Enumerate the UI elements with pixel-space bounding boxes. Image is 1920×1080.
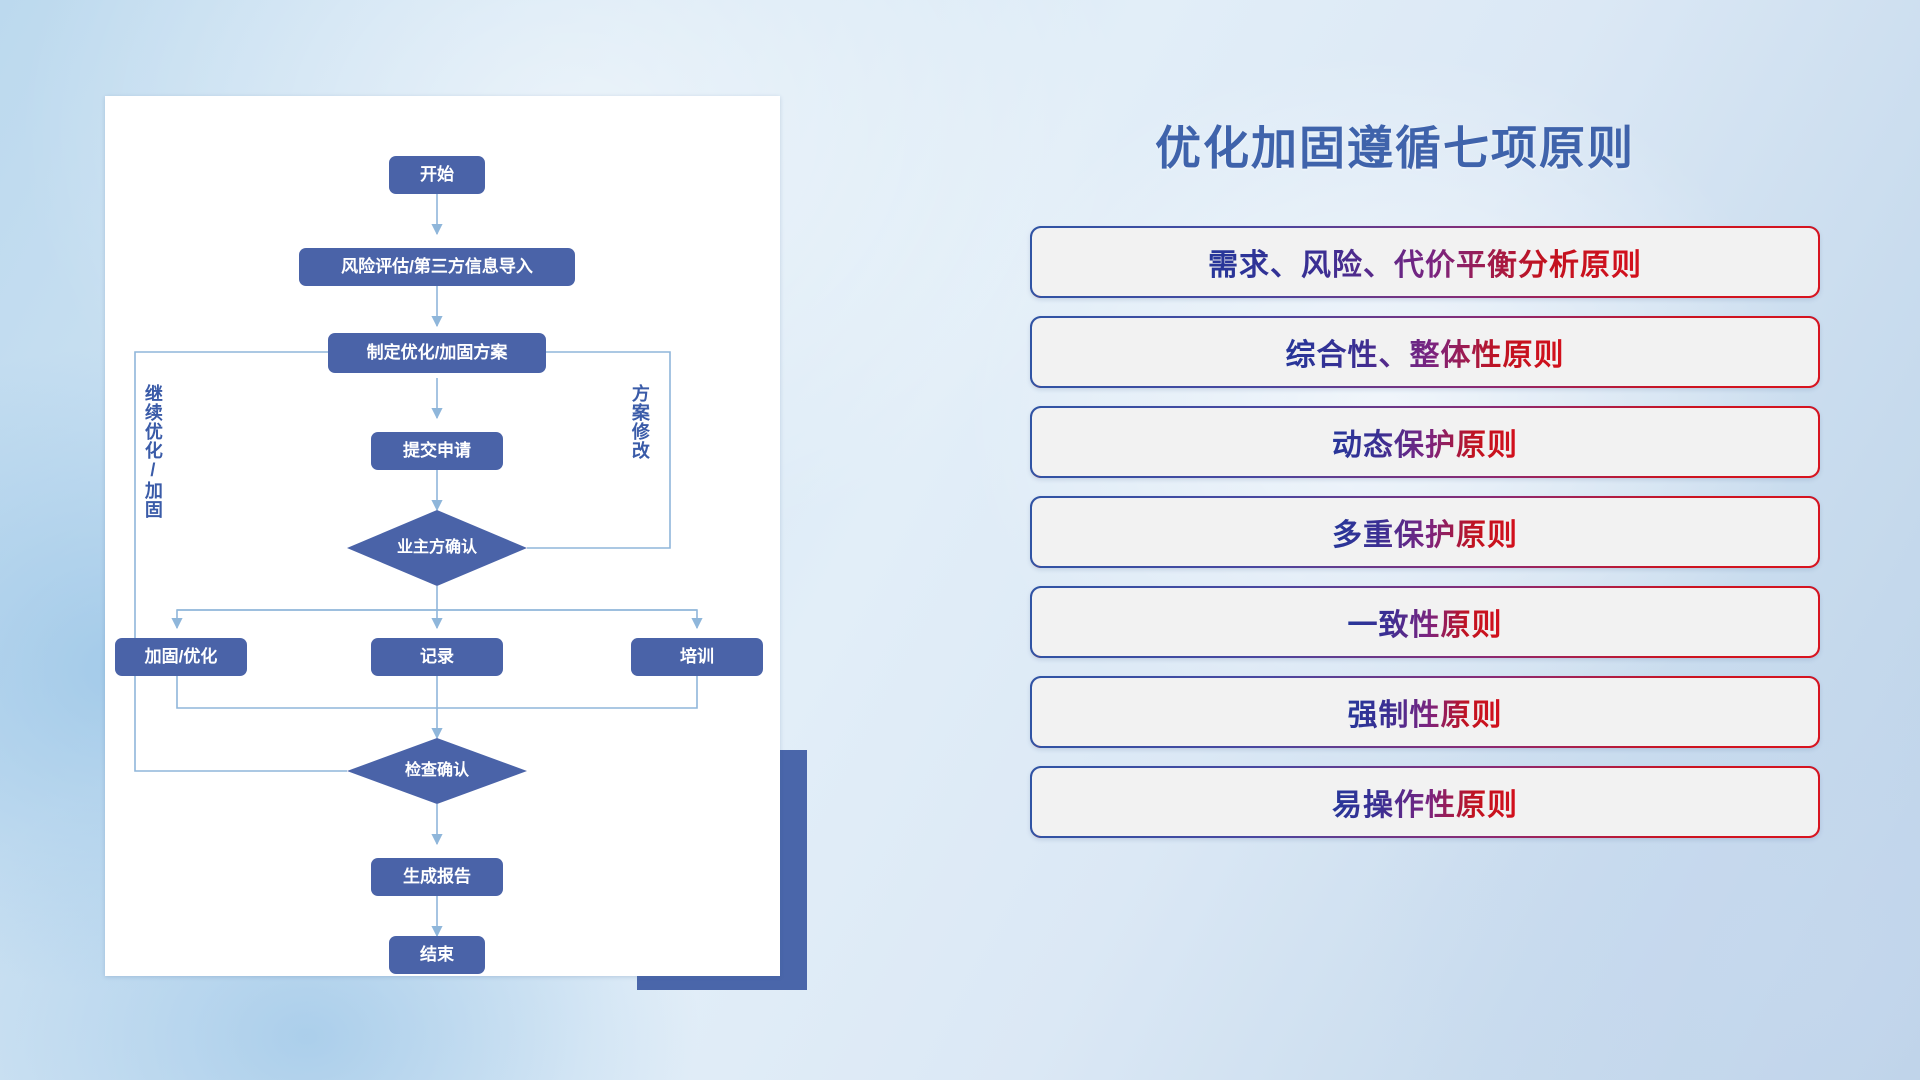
principle-card-4[interactable]: 多重保护原则 [1030,496,1820,568]
principles-pane: 优化加固遵循七项原则 需求、风险、代价平衡分析原则 综合性、整体性原则 动态保护… [1000,0,1850,1080]
principle-label-4: 多重保护原则 [1332,510,1518,554]
principle-label-3: 动态保护原则 [1332,420,1518,464]
principles-card-list: 需求、风险、代价平衡分析原则 综合性、整体性原则 动态保护原则 多重保护原则 一… [1030,226,1820,856]
principle-label-6: 强制性原则 [1348,690,1503,734]
principle-label-5: 一致性原则 [1348,600,1503,644]
principle-card-1[interactable]: 需求、风险、代价平衡分析原则 [1030,226,1820,298]
flow-edge-label-plan-revision: 方案修改 [630,384,649,460]
flowchart-panel: 开始 风险评估/第三方信息导入 制定优化/加固方案 提交申请 业主方确认 加固/… [105,96,780,976]
principle-label-1: 需求、风险、代价平衡分析原则 [1208,240,1642,284]
principle-label-7: 易操作性原则 [1332,780,1518,824]
principle-card-7[interactable]: 易操作性原则 [1030,766,1820,838]
principle-card-6[interactable]: 强制性原则 [1030,676,1820,748]
principle-card-3[interactable]: 动态保护原则 [1030,406,1820,478]
flow-edge-label-continue-optimize: 继续优化/加固 [143,384,162,519]
principle-label-2: 综合性、整体性原则 [1286,330,1565,374]
principle-card-5[interactable]: 一致性原则 [1030,586,1820,658]
principles-title: 优化加固遵循七项原则 [1155,112,1635,178]
slide-canvas: 开始 风险评估/第三方信息导入 制定优化/加固方案 提交申请 业主方确认 加固/… [0,0,1920,1080]
flowchart-diagram [105,96,780,976]
principle-card-2[interactable]: 综合性、整体性原则 [1030,316,1820,388]
